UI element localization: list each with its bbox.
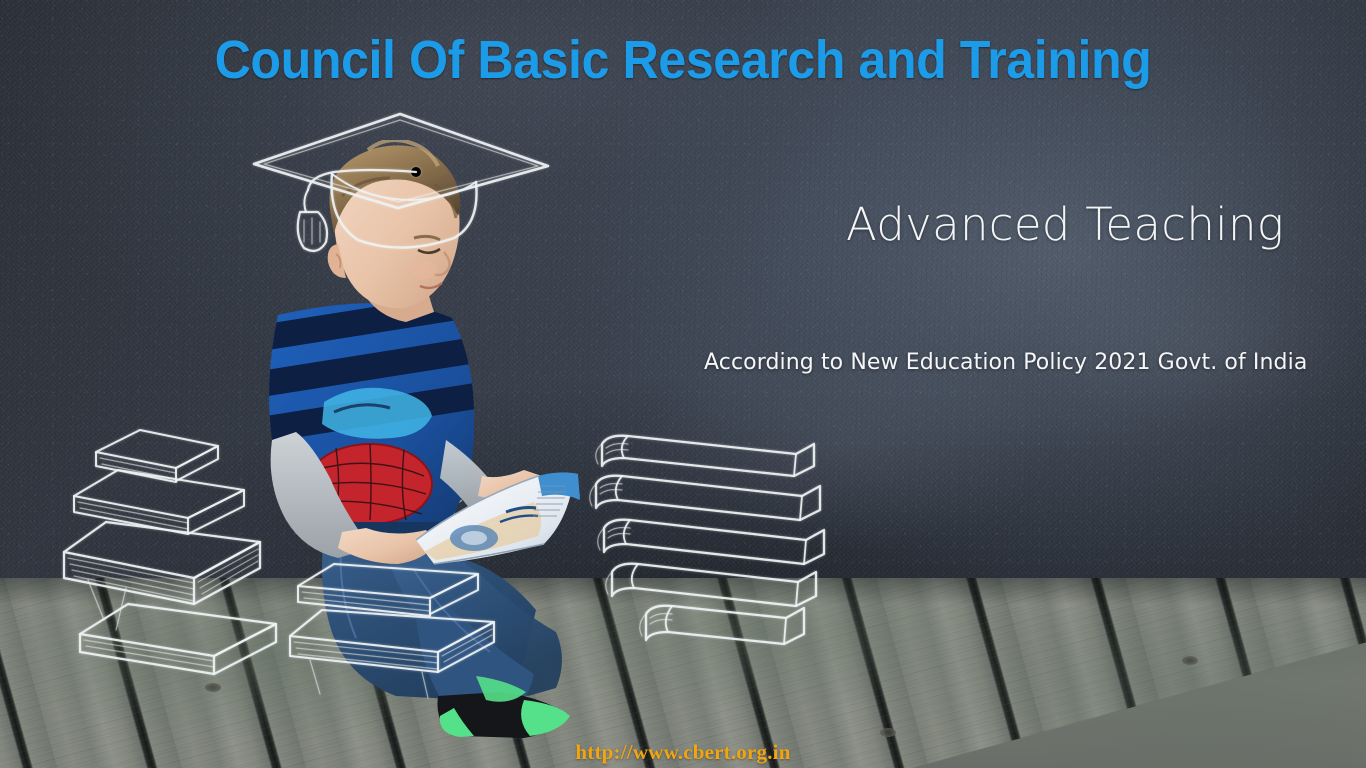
floor-knot-mark <box>205 683 221 692</box>
cbert-banner: Council Of Basic Research and Training A… <box>0 0 1366 768</box>
subheadline-text: According to New Education Policy 2021 G… <box>704 350 1307 375</box>
chalkboard-smudge-texture <box>0 0 1366 600</box>
headline-text: Advanced Teaching <box>846 198 1284 251</box>
floor-knot-mark <box>1182 656 1198 665</box>
website-url-link[interactable]: http://www.cbert.org.in <box>0 740 1366 765</box>
floor-knot-mark <box>880 728 896 737</box>
chalkboard-background <box>0 0 1366 600</box>
boy-reading-book-photo <box>238 140 598 740</box>
page-title: Council Of Basic Research and Training <box>48 33 1318 87</box>
